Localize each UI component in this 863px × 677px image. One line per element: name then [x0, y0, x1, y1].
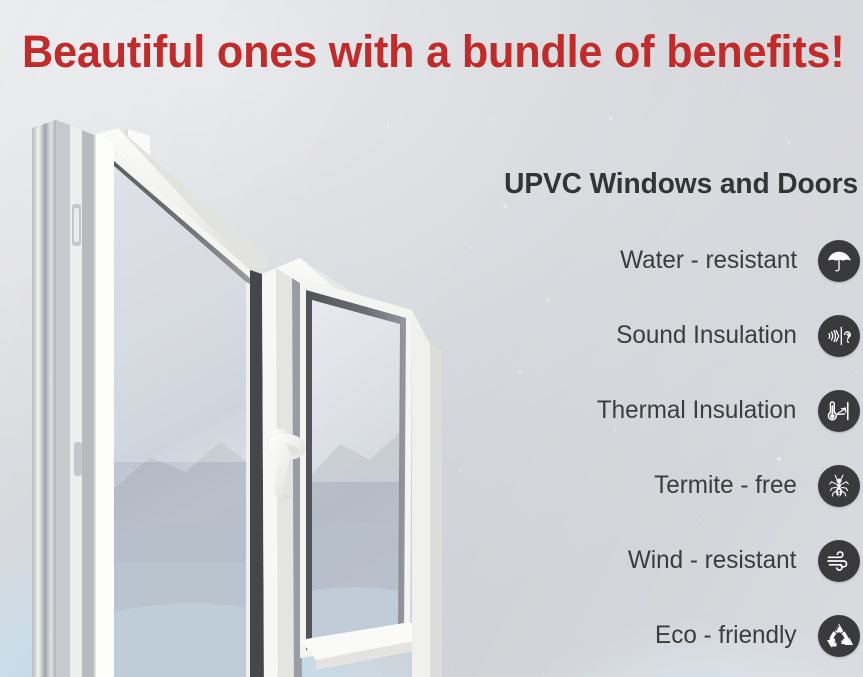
feature-label: Eco - friendly [655, 621, 818, 650]
feature-row-sound-insulation: Sound Insulation [440, 298, 860, 373]
sound-wave-ear-icon [818, 315, 860, 357]
poster-canvas: Beautiful ones with a bundle of benefits… [0, 0, 863, 677]
umbrella-rain-icon [818, 240, 860, 282]
feature-row-water-resistant: Water - resistant [440, 223, 860, 298]
termite-ant-icon [818, 465, 860, 507]
feature-row-termite-free: Termite - free [440, 448, 860, 523]
feature-label: Termite - free [654, 471, 818, 500]
recycle-icon [818, 615, 860, 657]
feature-row-wind-resistant: Wind - resistant [440, 523, 860, 598]
wind-gust-icon [818, 540, 860, 582]
thermometer-heat-reflect-icon [818, 390, 860, 432]
features-panel: UPVC Windows and Doors Water - resistant [440, 168, 860, 673]
feature-label: Water - resistant [620, 246, 818, 275]
feature-row-eco-friendly: Eco - friendly [440, 598, 860, 673]
feature-row-thermal-insulation: Thermal Insulation [440, 373, 860, 448]
feature-label: Wind - resistant [628, 546, 818, 575]
features-list: Water - resistant [440, 223, 860, 673]
feature-label: Thermal Insulation [597, 396, 818, 425]
page-title: Beautiful ones with a bundle of benefits… [22, 29, 819, 74]
features-panel-title: UPVC Windows and Doors [453, 168, 860, 201]
feature-label: Sound Insulation [616, 321, 818, 350]
